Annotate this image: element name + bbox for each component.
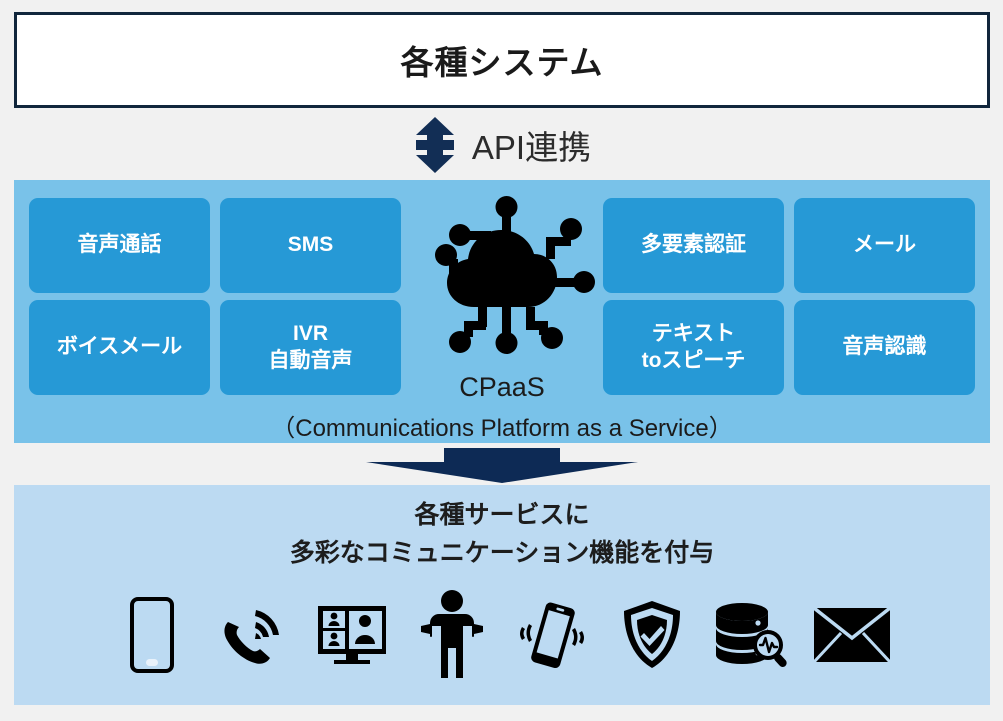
api-link-label: API連携 bbox=[472, 131, 591, 164]
feature-box-sms[interactable]: SMS bbox=[220, 198, 401, 293]
cpaas-name: CPaaS bbox=[14, 372, 990, 403]
feature-box-mail[interactable]: メール bbox=[794, 198, 975, 293]
tablet-icon bbox=[113, 591, 191, 679]
system-box-title: 各種システム bbox=[400, 36, 603, 84]
feature-label: テキストtoスピーチ bbox=[642, 321, 746, 374]
feature-label: IVR自動音声 bbox=[269, 321, 353, 374]
diagram-canvas: 各種システム API連携 音声通話 SMS 多要素認証 メール ボイスメール I… bbox=[0, 0, 1003, 721]
envelope-icon bbox=[813, 591, 891, 679]
feature-box-voice-call[interactable]: 音声通話 bbox=[29, 198, 210, 293]
services-panel: 各種サービスに 多彩なコミュニケーション機能を付与 bbox=[14, 485, 990, 705]
feature-box-mfa[interactable]: 多要素認証 bbox=[603, 198, 784, 293]
services-headline-line2: 多彩なコミュニケーション機能を付与 bbox=[14, 535, 990, 573]
cpaas-full-name: （Communications Platform as a Service） bbox=[14, 408, 990, 443]
database-analytics-icon bbox=[713, 591, 791, 679]
services-headline: 各種サービスに 多彩なコミュニケーション機能を付与 bbox=[14, 497, 990, 572]
double-arrow-vertical-icon bbox=[412, 117, 458, 173]
api-link-row: API連携 bbox=[0, 113, 1003, 177]
arrow-down-icon bbox=[366, 448, 638, 483]
services-headline-line1: 各種サービスに bbox=[14, 497, 990, 535]
cloud-network-icon bbox=[416, 193, 598, 368]
feature-label: 音声認識 bbox=[843, 334, 927, 360]
system-box: 各種システム bbox=[14, 12, 990, 108]
ringing-phone-icon bbox=[213, 591, 291, 679]
video-conference-icon bbox=[313, 591, 391, 679]
person-icon bbox=[413, 591, 491, 679]
feature-label: ボイスメール bbox=[57, 334, 182, 360]
cpaas-band: 音声通話 SMS 多要素認証 メール ボイスメール IVR自動音声 テキストto… bbox=[14, 180, 990, 443]
feature-label: SMS bbox=[288, 232, 334, 258]
feature-label: メール bbox=[853, 232, 916, 258]
feature-label: 音声通話 bbox=[78, 232, 162, 258]
service-icon-row bbox=[14, 580, 990, 690]
feature-label: 多要素認証 bbox=[641, 232, 746, 258]
shield-check-icon bbox=[613, 591, 691, 679]
vibrating-smartphone-icon bbox=[513, 591, 591, 679]
